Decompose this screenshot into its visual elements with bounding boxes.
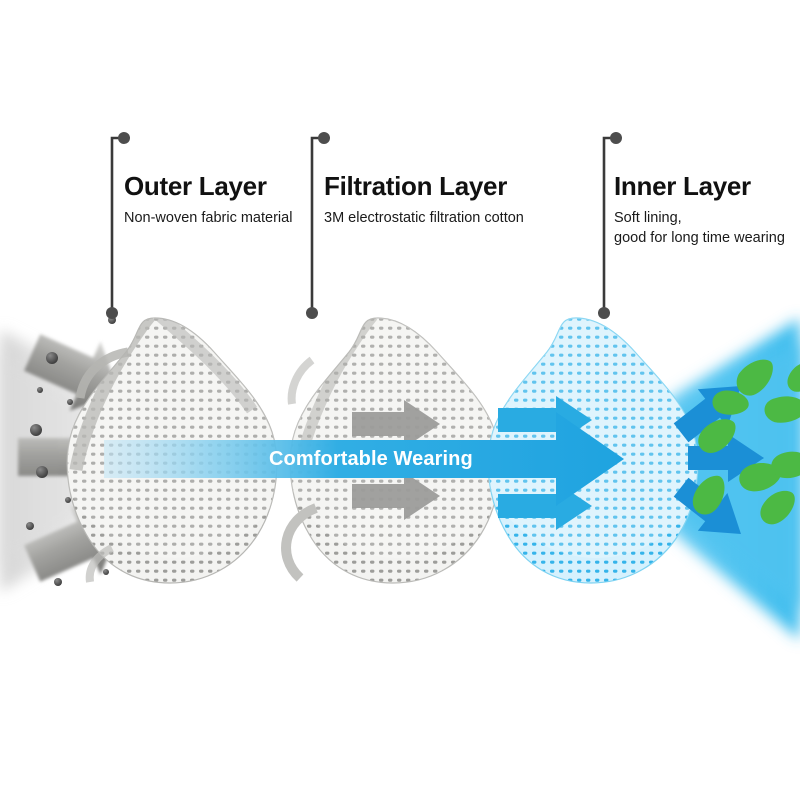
callout-inner-layer-subtitle-line-1: Soft lining,: [614, 209, 785, 229]
callout-filtration-layer: Filtration Layer 3M electrostatic filtra…: [324, 173, 524, 229]
callout-inner-layer: Inner Layer Soft lining, good for long t…: [614, 173, 785, 248]
leader-line-filtration: [312, 138, 324, 310]
callout-inner-layer-subtitle-line-2: good for long time wearing: [614, 229, 785, 249]
infographic-canvas: Outer Layer Non-woven fabric material Fi…: [0, 0, 800, 800]
callout-inner-layer-subtitle: Soft lining, good for long time wearing: [614, 209, 785, 248]
callout-leader-lines: [0, 0, 800, 800]
callout-outer-layer: Outer Layer Non-woven fabric material: [124, 173, 292, 229]
leader-dot-outer-top: [118, 132, 130, 144]
leader-dot-filtration-bottom: [306, 307, 318, 319]
leader-dot-inner-bottom: [598, 307, 610, 319]
callout-outer-layer-title: Outer Layer: [124, 173, 292, 200]
callout-outer-layer-subtitle: Non-woven fabric material: [124, 209, 292, 229]
leader-dot-inner-top: [610, 132, 622, 144]
leader-line-outer: [112, 138, 124, 310]
callout-outer-layer-subtitle-line-1: Non-woven fabric material: [124, 209, 292, 229]
comfortable-wearing-label: Comfortable Wearing: [269, 448, 473, 471]
leader-dot-filtration-top: [318, 132, 330, 144]
callout-filtration-layer-title: Filtration Layer: [324, 173, 524, 200]
callout-inner-layer-title: Inner Layer: [614, 173, 785, 200]
callout-filtration-layer-subtitle: 3M electrostatic filtration cotton: [324, 209, 524, 229]
callout-filtration-layer-subtitle-line-1: 3M electrostatic filtration cotton: [324, 209, 524, 229]
leader-dot-outer-bottom: [106, 307, 118, 319]
